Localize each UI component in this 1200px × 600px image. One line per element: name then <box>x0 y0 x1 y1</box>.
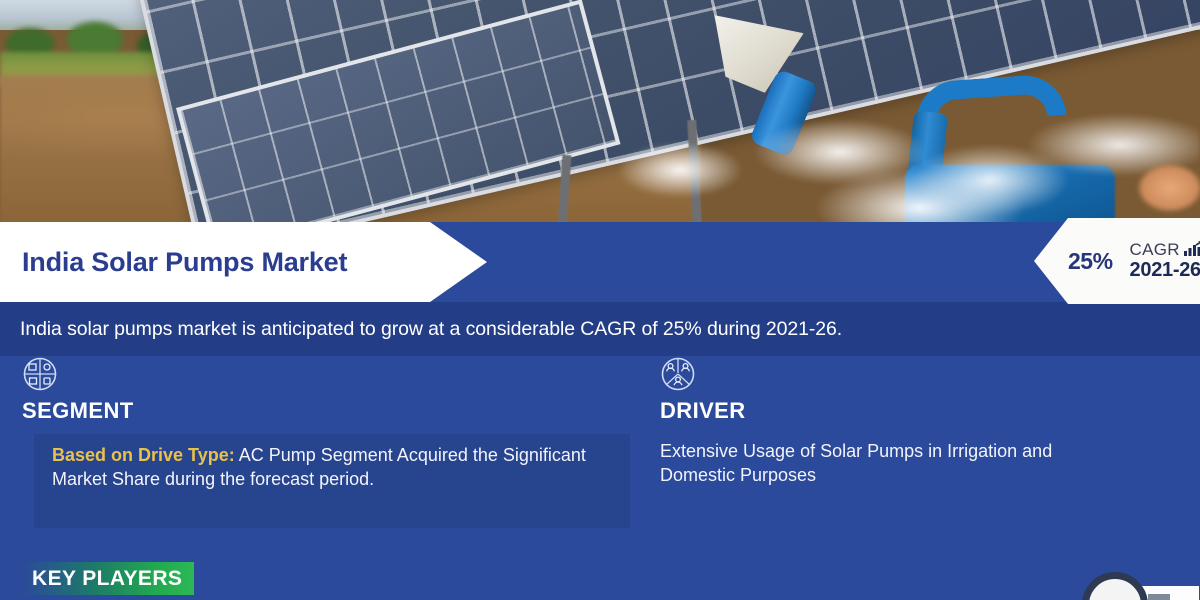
group-network-icon <box>660 356 696 392</box>
driver-body: Extensive Usage of Solar Pumps in Irriga… <box>660 440 1080 488</box>
segment-panel: Based on Drive Type: AC Pump Segment Acq… <box>34 434 630 528</box>
segment-body: Based on Drive Type: AC Pump Segment Acq… <box>34 434 630 492</box>
cagr-years: 2021-26 <box>1130 260 1200 282</box>
hand <box>1130 150 1200 222</box>
cagr-percent: 25% <box>1068 248 1113 275</box>
cagr-badge: 25% CAGR 2021-26 <box>1034 218 1200 304</box>
driver-heading: DRIVER <box>660 398 1180 424</box>
segment-highlight: Based on Drive Type: <box>52 445 235 465</box>
title-ribbon: India Solar Pumps Market <box>0 222 500 302</box>
cagr-details: CAGR 2021-26 <box>1130 241 1200 282</box>
cagr-label: CAGR <box>1130 241 1180 259</box>
subtitle-text: India solar pumps market is anticipated … <box>20 318 842 341</box>
water-splash <box>590 100 1200 222</box>
bar-chart-growth-icon <box>1184 241 1200 260</box>
key-players-badge: KEY PLAYERS <box>22 562 194 595</box>
subtitle-band: India solar pumps market is anticipated … <box>0 302 1200 356</box>
segmented-circle-icon <box>22 356 58 392</box>
player-logo-mark <box>1148 594 1170 600</box>
driver-section: DRIVER Extensive Usage of Solar Pumps in… <box>660 356 1180 424</box>
hero-image <box>0 0 1200 222</box>
segment-section: SEGMENT Based on Drive Type: AC Pump Seg… <box>22 356 622 424</box>
key-players-label: KEY PLAYERS <box>32 567 182 591</box>
page-title: India Solar Pumps Market <box>22 247 347 278</box>
segment-heading: SEGMENT <box>22 398 622 424</box>
